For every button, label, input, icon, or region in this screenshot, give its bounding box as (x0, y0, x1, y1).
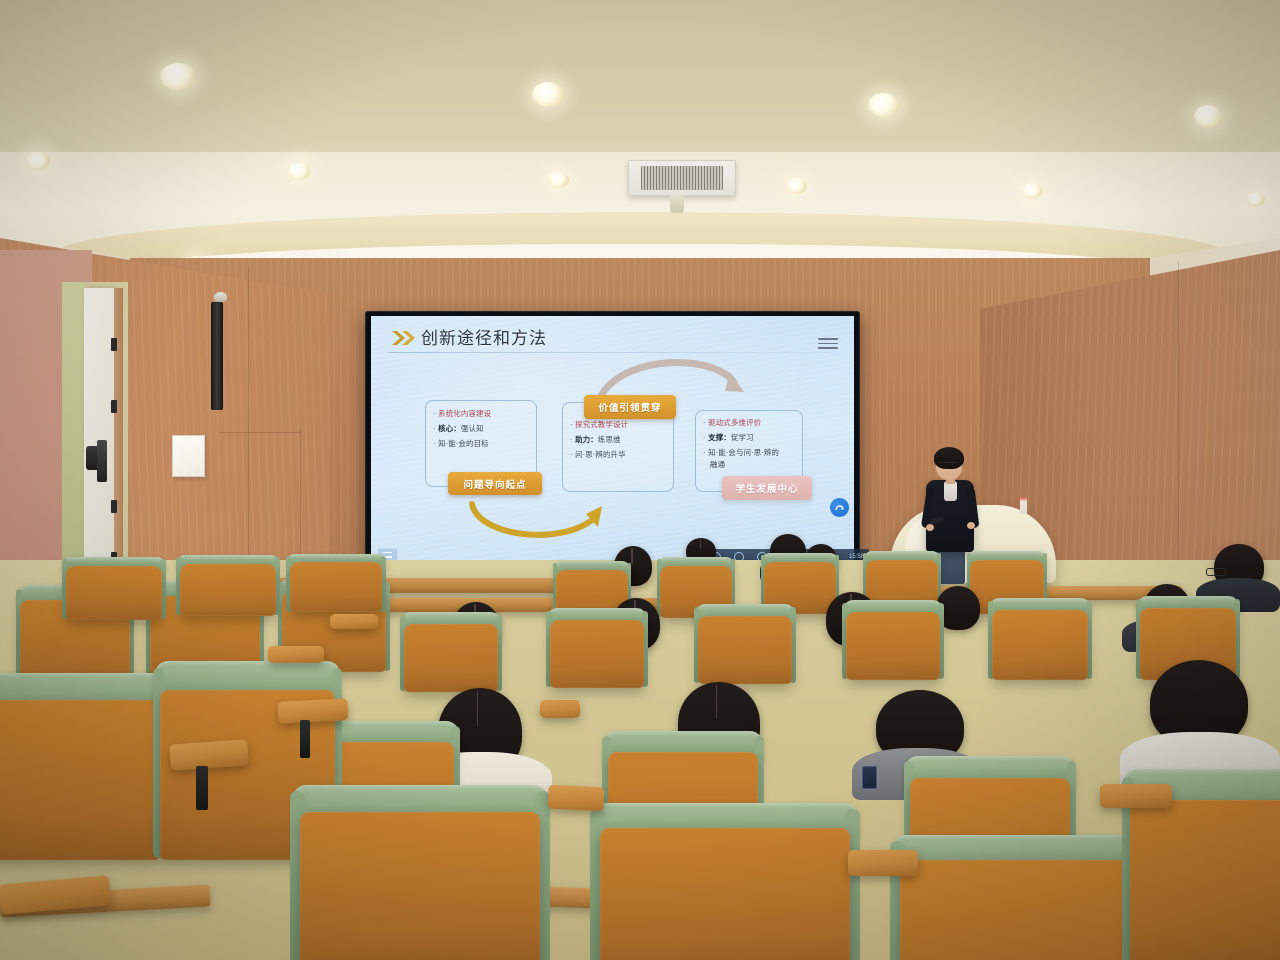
card-line: · 问·思·辨的升华 (570, 449, 626, 460)
seat[interactable] (992, 610, 1088, 680)
entrance-door[interactable] (84, 288, 116, 580)
seat[interactable] (66, 566, 162, 620)
seat[interactable] (1130, 800, 1280, 960)
recessed-downlight (786, 178, 807, 194)
blue-circle-logo-icon (830, 498, 849, 517)
door-hinge (111, 400, 117, 413)
armrest-leg (300, 720, 310, 758)
recessed-downlight (548, 172, 569, 188)
recessed-downlight (532, 82, 564, 107)
card-line: · 核心：强认知 (433, 423, 484, 434)
seat[interactable] (600, 828, 850, 960)
seat[interactable] (180, 564, 276, 616)
wall-notice-plate (172, 435, 205, 477)
seat[interactable] (846, 612, 940, 680)
card-line: · 知·能·会与问·思·辨的 (703, 447, 779, 458)
card-line: · 助力：练思维 (570, 434, 621, 445)
seat[interactable] (900, 860, 1150, 960)
presenter-hand-right (967, 522, 975, 529)
armrest-leg (196, 766, 208, 810)
seat-armrest (169, 739, 249, 770)
attendee-glasses (1206, 568, 1226, 576)
slide-badge-middle: 价值引领贯穿 (584, 395, 676, 419)
seat[interactable] (290, 562, 382, 612)
wall-speaker-column (211, 302, 223, 410)
water-bottle (1020, 497, 1027, 514)
card-line: · 驱动式多维评价 (703, 417, 761, 428)
attendee-phone[interactable] (862, 766, 877, 789)
recessed-downlight (1022, 183, 1042, 199)
double-chevron-right-icon (391, 330, 417, 346)
seat-armrest (848, 850, 918, 876)
card-line: · 支撑：促学习 (703, 432, 754, 443)
seat-armrest (277, 698, 348, 724)
recessed-downlight (26, 152, 50, 170)
seat[interactable] (0, 700, 160, 860)
recessed-downlight (288, 163, 310, 180)
recessed-downlight (1194, 105, 1222, 128)
recessed-downlight (868, 93, 899, 117)
slide-title: 创新途径和方法 (421, 324, 547, 349)
presenter-glasses (938, 462, 959, 468)
door-hinge (111, 338, 117, 351)
seat-armrest (540, 700, 580, 718)
card-line: · 知·能·会的目标 (433, 438, 489, 449)
presenter-shirt (944, 481, 957, 501)
wall-panel-seam (218, 432, 302, 433)
lecture-hall-scene: 创新途径和方法 · 系统化内容建设 · 核心：强认知 · 知·能·会的目标 问题… (0, 0, 1280, 960)
seat-armrest (330, 614, 378, 629)
presenter-hand-left (926, 524, 934, 531)
ceiling-camera-icon (214, 292, 227, 302)
wall-panel-seam (1178, 262, 1179, 602)
seat-armrest (268, 646, 324, 663)
ac-grill (641, 166, 723, 190)
seat[interactable] (550, 620, 644, 688)
seat[interactable] (404, 624, 498, 692)
door-opening (62, 282, 86, 582)
card-line: 融通 (710, 459, 725, 470)
wall-panel-seam (248, 268, 249, 576)
slide-badge-right: 学生发展中心 (722, 476, 812, 500)
seat[interactable] (300, 812, 540, 960)
card-line: · 系统化内容建设 (433, 408, 491, 419)
door-hinge (111, 500, 117, 513)
hamburger-menu-icon[interactable] (818, 338, 838, 349)
door-edge (114, 288, 123, 580)
recessed-downlight (1246, 192, 1265, 207)
seat-armrest (1100, 784, 1172, 808)
recessed-downlight (160, 63, 196, 90)
ceiling-air-conditioner (628, 160, 736, 196)
door-lock[interactable] (97, 440, 107, 482)
ac-drop-stem (670, 193, 684, 213)
slide-badge-left: 问题导向起点 (448, 472, 542, 495)
seat-armrest (547, 785, 604, 812)
card-line: · 探究式教学设计 (570, 419, 628, 430)
seat[interactable] (698, 616, 792, 684)
gold-curved-arrow-right (466, 500, 618, 548)
